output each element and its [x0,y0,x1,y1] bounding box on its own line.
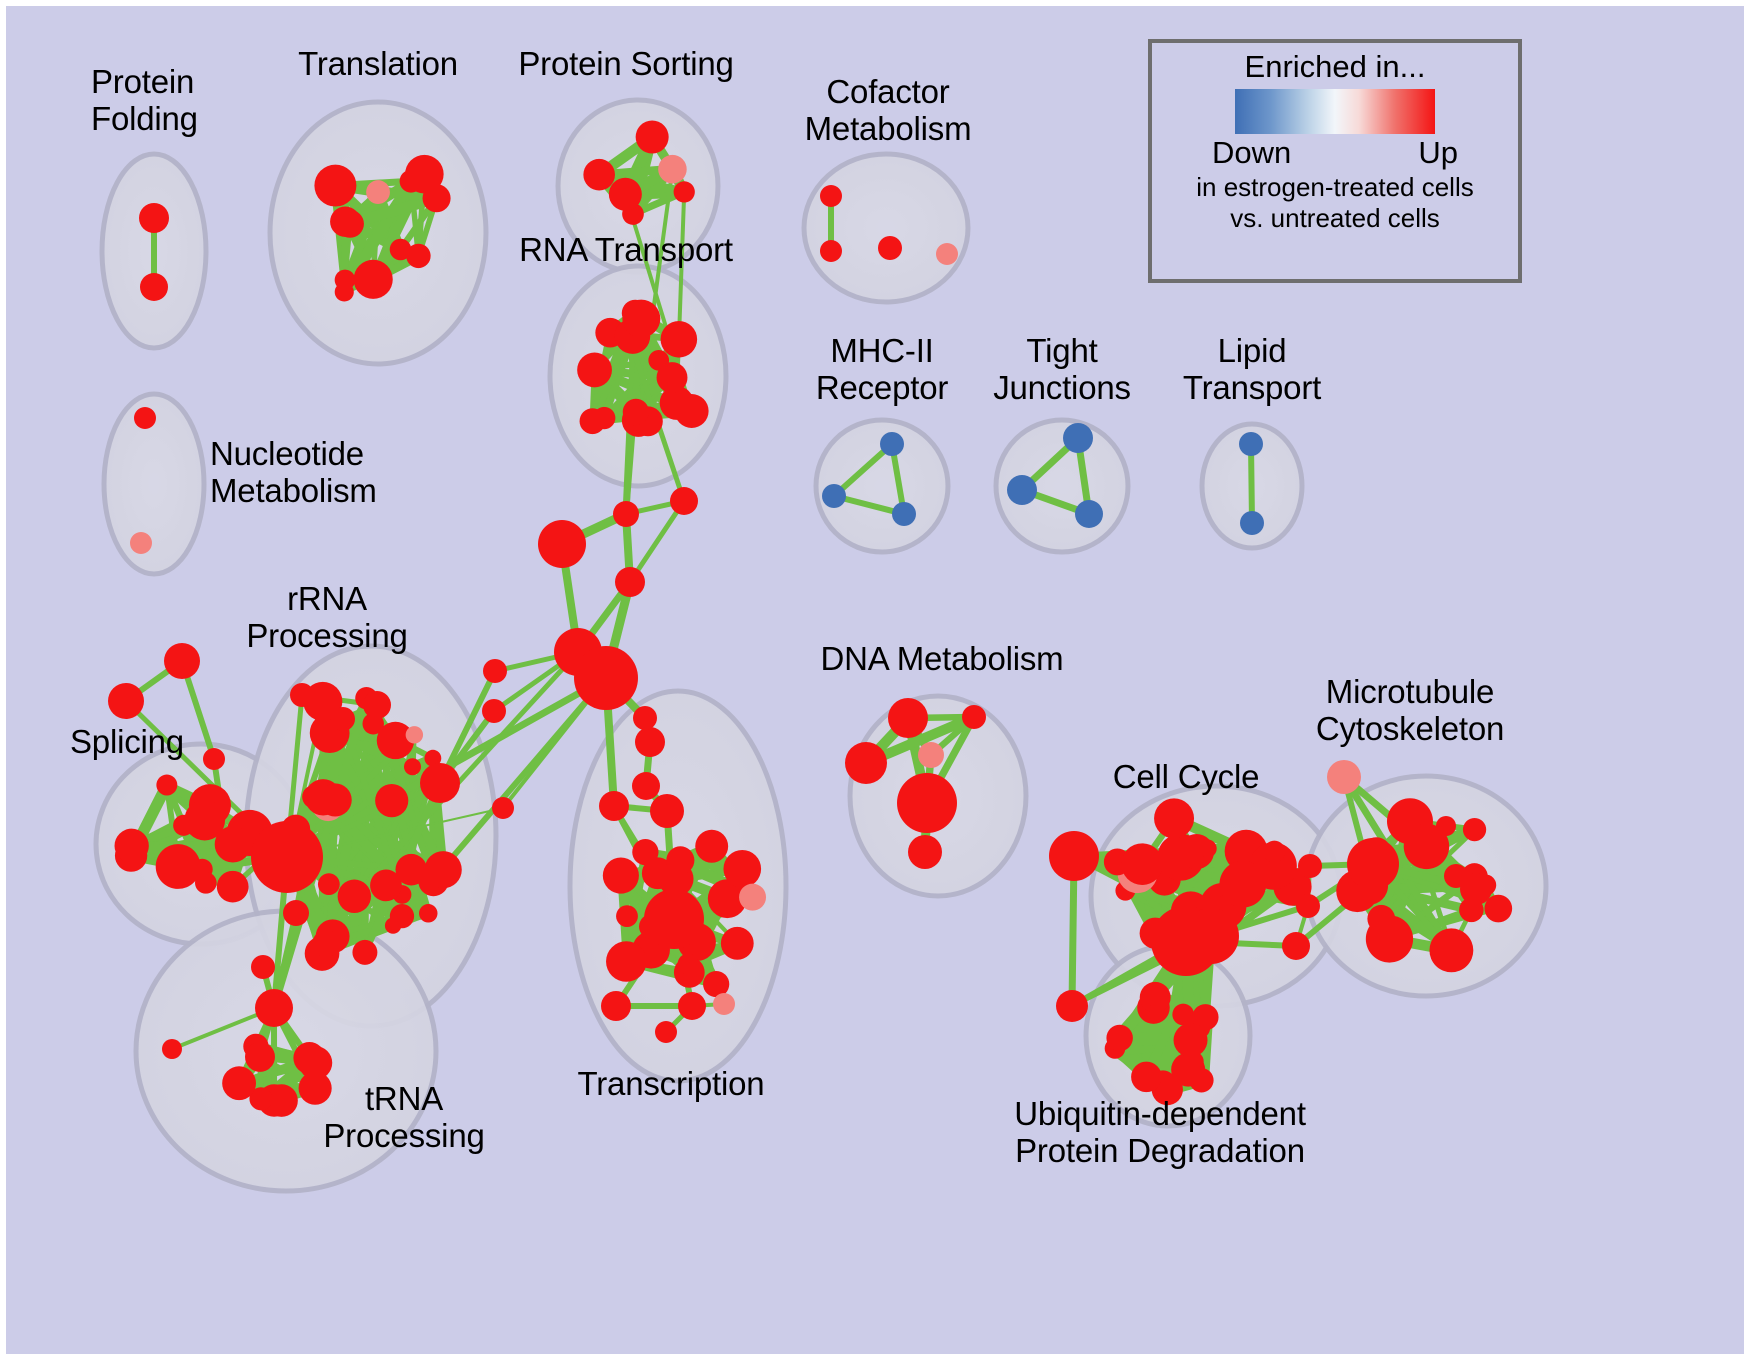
network-node [603,858,639,894]
network-node [650,794,684,828]
network-node [678,954,699,975]
network-node [492,797,514,819]
network-node [880,432,904,456]
network-node [314,165,356,207]
network-node [283,900,309,926]
network-node [1347,838,1399,890]
network-node [657,362,688,393]
network-node [721,927,754,960]
network-node [255,989,293,1027]
network-node [622,300,660,338]
network-node [599,791,629,821]
network-node [251,955,275,979]
legend-caption-line-2: vs. untreated cells [1230,204,1440,233]
legend-panel: Enriched in... Down Up in estrogen-treat… [1148,39,1522,283]
network-node [723,850,761,888]
network-node [936,243,958,265]
network-node [318,873,340,895]
color-gradient-bar [1235,89,1435,134]
network-node [156,775,177,796]
network-node [655,1021,677,1043]
legend-high-label: Up [1418,135,1458,171]
network-node [312,930,339,957]
network-node [615,567,645,597]
network-node [423,184,451,212]
network-node [616,905,638,927]
network-node [419,904,437,922]
network-node [675,394,709,428]
network-node [483,659,507,683]
network-node [695,830,728,863]
network-node [606,941,647,982]
network-node [139,203,169,233]
network-node [331,707,355,731]
network-node [1174,1023,1208,1057]
network-node [140,273,168,301]
network-node [1298,854,1322,878]
network-node [156,844,201,889]
network-node [425,851,462,888]
network-node [1219,861,1266,908]
network-node [613,501,639,527]
network-node [820,240,842,262]
network-node [574,646,638,710]
network-node [1436,816,1456,836]
network-node [203,748,225,770]
network-node [666,846,694,874]
network-node [609,178,642,211]
network-node [1121,843,1163,885]
network-node [366,180,390,204]
network-node [713,993,735,1015]
network-node [1007,475,1037,505]
network-node [593,407,615,429]
network-node [623,399,649,425]
network-node [674,181,695,202]
network-node [1296,894,1320,918]
network-node [1183,908,1239,964]
network-node [635,727,665,757]
network-node [644,889,704,949]
network-node [661,321,698,358]
network-node [1460,873,1492,905]
network-node [420,763,460,803]
network-node [404,758,421,775]
network-node [290,683,314,707]
network-node [115,829,149,863]
network-node [406,726,423,743]
legend-title: Enriched in... [1245,49,1426,85]
network-node [1463,818,1486,841]
network-node [1063,423,1093,453]
network-node [888,698,928,738]
network-node [1429,928,1473,972]
network-node [164,643,200,679]
network-node [822,484,846,508]
network-node [1239,432,1263,456]
network-node [1056,990,1088,1022]
network-node [217,871,249,903]
network-node [1263,841,1285,863]
network-node [1106,1025,1132,1051]
network-node [1198,839,1216,857]
network-node [845,742,887,784]
network-node [354,260,393,299]
network-node [897,773,957,833]
network-node [538,520,586,568]
network-node [1327,760,1361,794]
network-node [892,502,916,526]
network-node [1049,831,1099,881]
network-node [583,159,615,191]
network-node [678,992,706,1020]
network-node [658,155,687,184]
network-node [1154,798,1194,838]
network-node [633,706,657,730]
network-node [878,236,902,260]
network-node [319,783,352,816]
network-node [395,854,427,886]
network-node [1484,895,1512,923]
network-node [352,940,377,965]
network-node [336,210,364,238]
network-node [1282,932,1310,960]
network-node [335,282,354,301]
network-node [375,784,408,817]
network-node [215,826,251,862]
network-node [251,821,323,893]
network-node [245,1042,275,1072]
network-node [482,699,506,723]
network-node [1367,905,1395,933]
legend-caption-line-1: in estrogen-treated cells [1196,173,1473,202]
network-node [1131,1062,1162,1093]
network-node [293,1042,325,1074]
network-node [1240,511,1264,535]
network-node [363,691,391,719]
network-node [390,239,412,261]
network-node [222,1066,256,1100]
network-node [1075,500,1103,528]
network-node [908,835,942,869]
network-node [820,185,842,207]
network-node [390,904,414,928]
legend-low-label: Down [1212,135,1291,171]
network-node [962,705,986,729]
network-node [918,742,944,768]
network-node [632,772,660,800]
network-node [1145,986,1166,1007]
network-node [670,487,698,515]
network-node [108,683,144,719]
network-node [636,121,669,154]
network-node [134,407,156,429]
network-node [601,991,631,1021]
network-node [338,880,371,913]
network-node [130,532,152,554]
enrichment-map-figure: Protein FoldingTranslationProtein Sortin… [0,0,1750,1360]
network-node [739,884,766,911]
network-node [577,353,612,388]
network-node [162,1039,182,1059]
legend-endpoints: Down Up [1212,135,1458,171]
